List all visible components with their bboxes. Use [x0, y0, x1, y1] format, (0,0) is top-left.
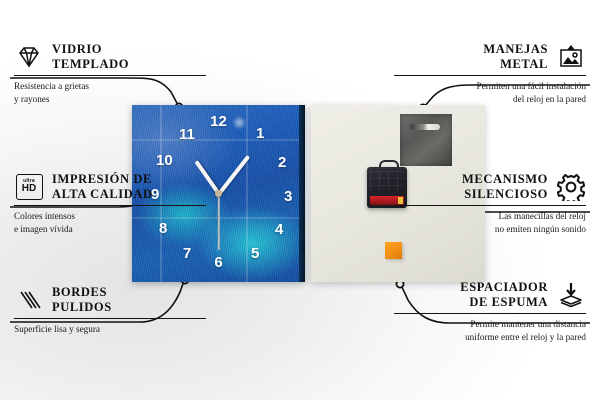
feature-desc-line1: Colores intensos: [14, 210, 206, 222]
feature-header: MECANISMO SILENCIOSO: [394, 172, 586, 202]
feature-divider: [14, 205, 206, 206]
polished-edges-icon: [14, 285, 44, 315]
feature-title-line2: PULIDOS: [52, 300, 112, 315]
feature-description: Resistencia a grietas y rayones: [14, 80, 206, 105]
feature-description: Las manecillas del reloj no emiten ningú…: [394, 210, 586, 235]
feature-description: Superficie lisa y segura: [14, 323, 206, 335]
clock-numeral-4: 4: [275, 222, 283, 237]
mechanism-hang-loop: [379, 160, 399, 171]
feature-vidrio-templado: VIDRIO TEMPLADO Resistencia a grietas y …: [14, 42, 206, 105]
clock-numeral-3: 3: [284, 189, 292, 204]
feature-title-line1: MECANISMO: [462, 172, 548, 187]
feature-description: Permiten una fácil instalación del reloj…: [394, 80, 586, 105]
feature-divider: [394, 75, 586, 76]
feature-title-line2: METAL: [483, 57, 548, 72]
clock-minute-hand: [217, 154, 250, 194]
feature-title: ESPACIADOR DE ESPUMA: [460, 280, 548, 310]
feature-title-line2: DE ESPUMA: [460, 295, 548, 310]
feature-title: VIDRIO TEMPLADO: [52, 42, 129, 72]
feature-header: ultra HD IMPRESIÓN DE ALTA CALIDAD: [14, 172, 206, 202]
infographic-canvas: 12 1 2 3 4 5 6 7 8 9 10 11: [0, 0, 600, 400]
diamond-icon: [14, 42, 44, 72]
gear-icon: [556, 172, 586, 202]
feature-title-line2: SILENCIOSO: [462, 187, 548, 202]
clock-numeral-12: 12: [210, 114, 227, 129]
feature-header: ESPACIADOR DE ESPUMA: [394, 280, 586, 310]
clock-numeral-5: 5: [251, 246, 259, 261]
feature-divider: [394, 313, 586, 314]
feature-title: MECANISMO SILENCIOSO: [462, 172, 548, 202]
feature-title: BORDES PULIDOS: [52, 285, 112, 315]
foam-spacer: [385, 242, 402, 259]
feature-desc-line1: Resistencia a grietas: [14, 80, 206, 92]
feature-title-line2: ALTA CALIDAD: [52, 187, 153, 202]
feature-title-line1: MANEJAS: [483, 42, 548, 57]
feature-description: Permite mantener una distancia uniforme …: [394, 318, 586, 343]
ultra-hd-icon: ultra HD: [14, 172, 44, 202]
feature-header: VIDRIO TEMPLADO: [14, 42, 206, 72]
hanger-slot: [410, 124, 440, 130]
feature-desc-line2: uniforme entre el reloj y la pared: [394, 331, 586, 343]
feature-mecanismo-silencioso: MECANISMO SILENCIOSO Las manecillas del …: [394, 172, 586, 235]
clock-numeral-11: 11: [179, 127, 195, 142]
picture-frame-icon: [556, 42, 586, 72]
feature-desc-line2: y rayones: [14, 93, 206, 105]
feature-desc-line1: Las manecillas del reloj: [394, 210, 586, 222]
feature-desc-line1: Permiten una fácil instalación: [394, 80, 586, 92]
clock-numeral-2: 2: [278, 155, 286, 170]
clock-numeral-1: 1: [256, 126, 264, 141]
metal-hanger-plate: [400, 114, 452, 166]
feature-description: Colores intensos e imagen vívida: [14, 210, 206, 235]
feature-desc-line2: e imagen vívida: [14, 223, 206, 235]
feature-title-line2: TEMPLADO: [52, 57, 129, 72]
ultra-hd-large-label: HD: [22, 184, 36, 195]
feature-manejas-metal: MANEJAS METAL Permiten una fácil instala…: [394, 42, 586, 105]
feature-divider: [14, 75, 206, 76]
feature-impresion-alta-calidad: ultra HD IMPRESIÓN DE ALTA CALIDAD Color…: [14, 172, 206, 235]
feature-title-line1: IMPRESIÓN DE: [52, 172, 153, 187]
feature-bordes-pulidos: BORDES PULIDOS Superficie lisa y segura: [14, 285, 206, 336]
feature-desc-line2: no emiten ningún sonido: [394, 223, 586, 235]
feature-desc-line2: del reloj en la pared: [394, 93, 586, 105]
feature-header: MANEJAS METAL: [394, 42, 586, 72]
clock-numeral-10: 10: [156, 153, 173, 168]
foam-spacer-icon: [556, 280, 586, 310]
feature-desc-line1: Superficie lisa y segura: [14, 323, 206, 335]
clock-second-hand: [218, 194, 220, 250]
feature-title-line1: BORDES: [52, 285, 112, 300]
feature-divider: [14, 318, 206, 319]
feature-espaciador-espuma: ESPACIADOR DE ESPUMA Permite mantener un…: [394, 280, 586, 343]
feature-title: MANEJAS METAL: [483, 42, 548, 72]
clock-numeral-7: 7: [183, 246, 191, 261]
feature-header: BORDES PULIDOS: [14, 285, 206, 315]
feature-title: IMPRESIÓN DE ALTA CALIDAD: [52, 172, 153, 202]
feature-desc-line1: Permite mantener una distancia: [394, 318, 586, 330]
feature-title-line1: ESPACIADOR: [460, 280, 548, 295]
feature-divider: [394, 205, 586, 206]
clock-center-cap: [215, 190, 222, 197]
feature-title-line1: VIDRIO: [52, 42, 129, 57]
clock-numeral-6: 6: [214, 255, 222, 270]
